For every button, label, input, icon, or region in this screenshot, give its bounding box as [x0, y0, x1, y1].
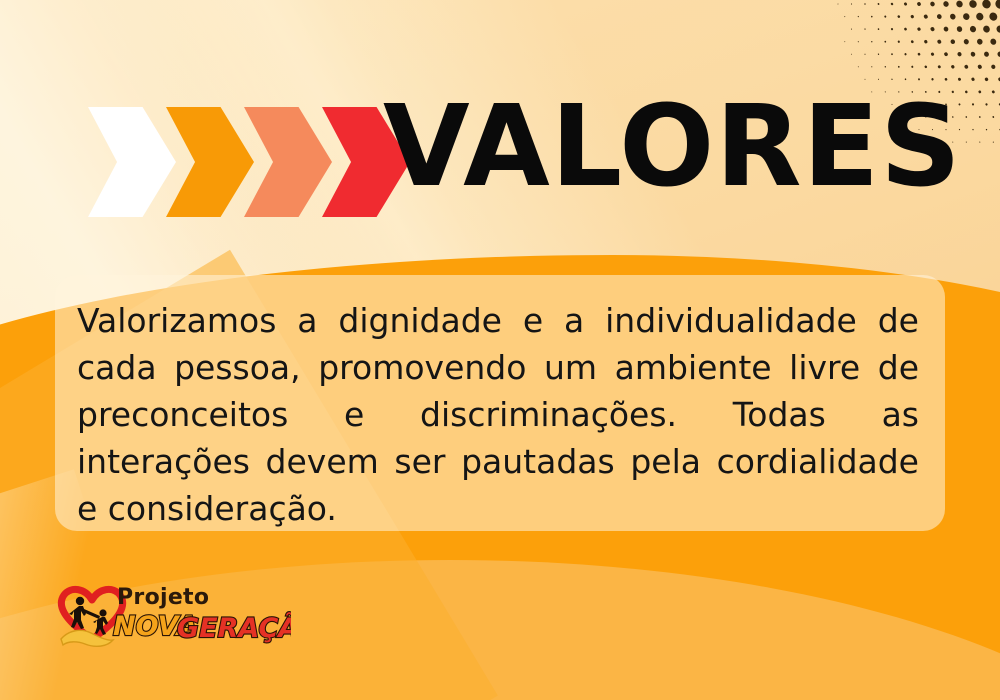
chevron-arrow-group	[88, 107, 400, 217]
values-body-text: Valorizamos a dignidade e a individualid…	[77, 297, 919, 532]
slide-canvas: VALORES Valorizamos a dignidade e a indi…	[0, 0, 1000, 700]
values-text-card: Valorizamos a dignidade e a individualid…	[55, 275, 945, 531]
chevron-arrow-1-icon	[88, 107, 176, 217]
logo-nova-geracao-wordmark: NOVA GERAÇÃO	[111, 605, 291, 645]
logo-geracao-text: GERAÇÃO	[177, 612, 291, 644]
chevron-arrow-3-icon	[244, 107, 332, 217]
chevron-arrow-2-icon	[166, 107, 254, 217]
organization-logo: Projeto NOVA GERAÇÃO	[55, 583, 285, 655]
page-title: VALORES	[383, 91, 962, 203]
